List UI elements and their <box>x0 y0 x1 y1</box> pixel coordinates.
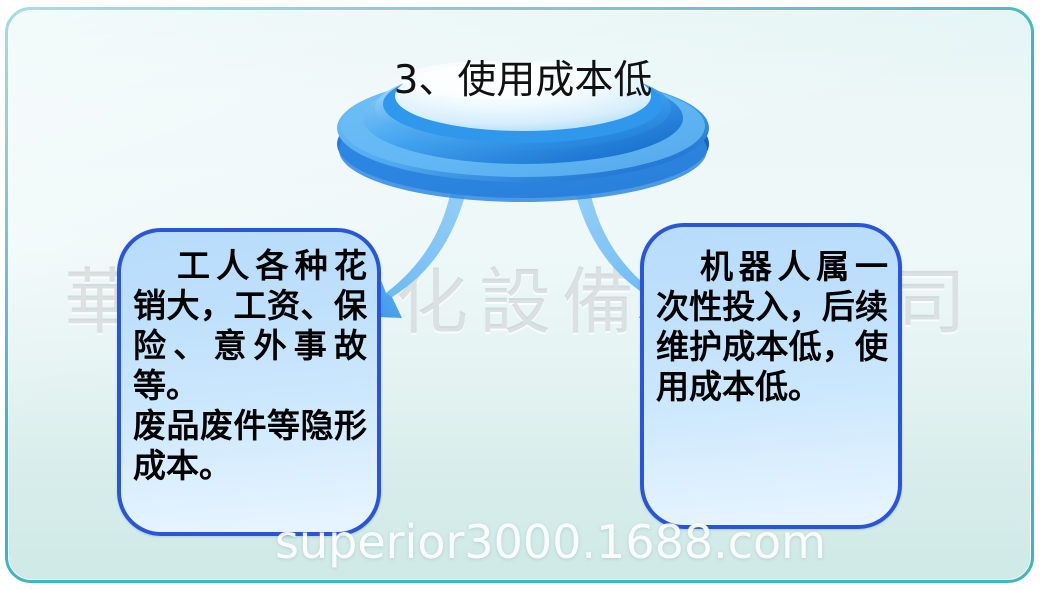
content-box-right-text: 机器人属一次性投入，后续维护成本低，使用成本低。 <box>644 227 898 407</box>
page-title: 3、使用成本低 <box>333 58 713 104</box>
content-box-left-text: 工人各种花销大，工资、保险、意外事故等。 废品废件等隐形成本。 <box>121 232 377 486</box>
content-box-right: 机器人属一次性投入，后续维护成本低，使用成本低。 <box>640 223 902 529</box>
url-watermark: superior3000.1688.com <box>0 516 1041 568</box>
title-disc <box>333 22 713 202</box>
content-box-left: 工人各种花销大，工资、保险、意外事故等。 废品废件等隐形成本。 <box>117 228 381 536</box>
slide-canvas: 華某自動化設備有限公司 <box>0 0 1041 590</box>
